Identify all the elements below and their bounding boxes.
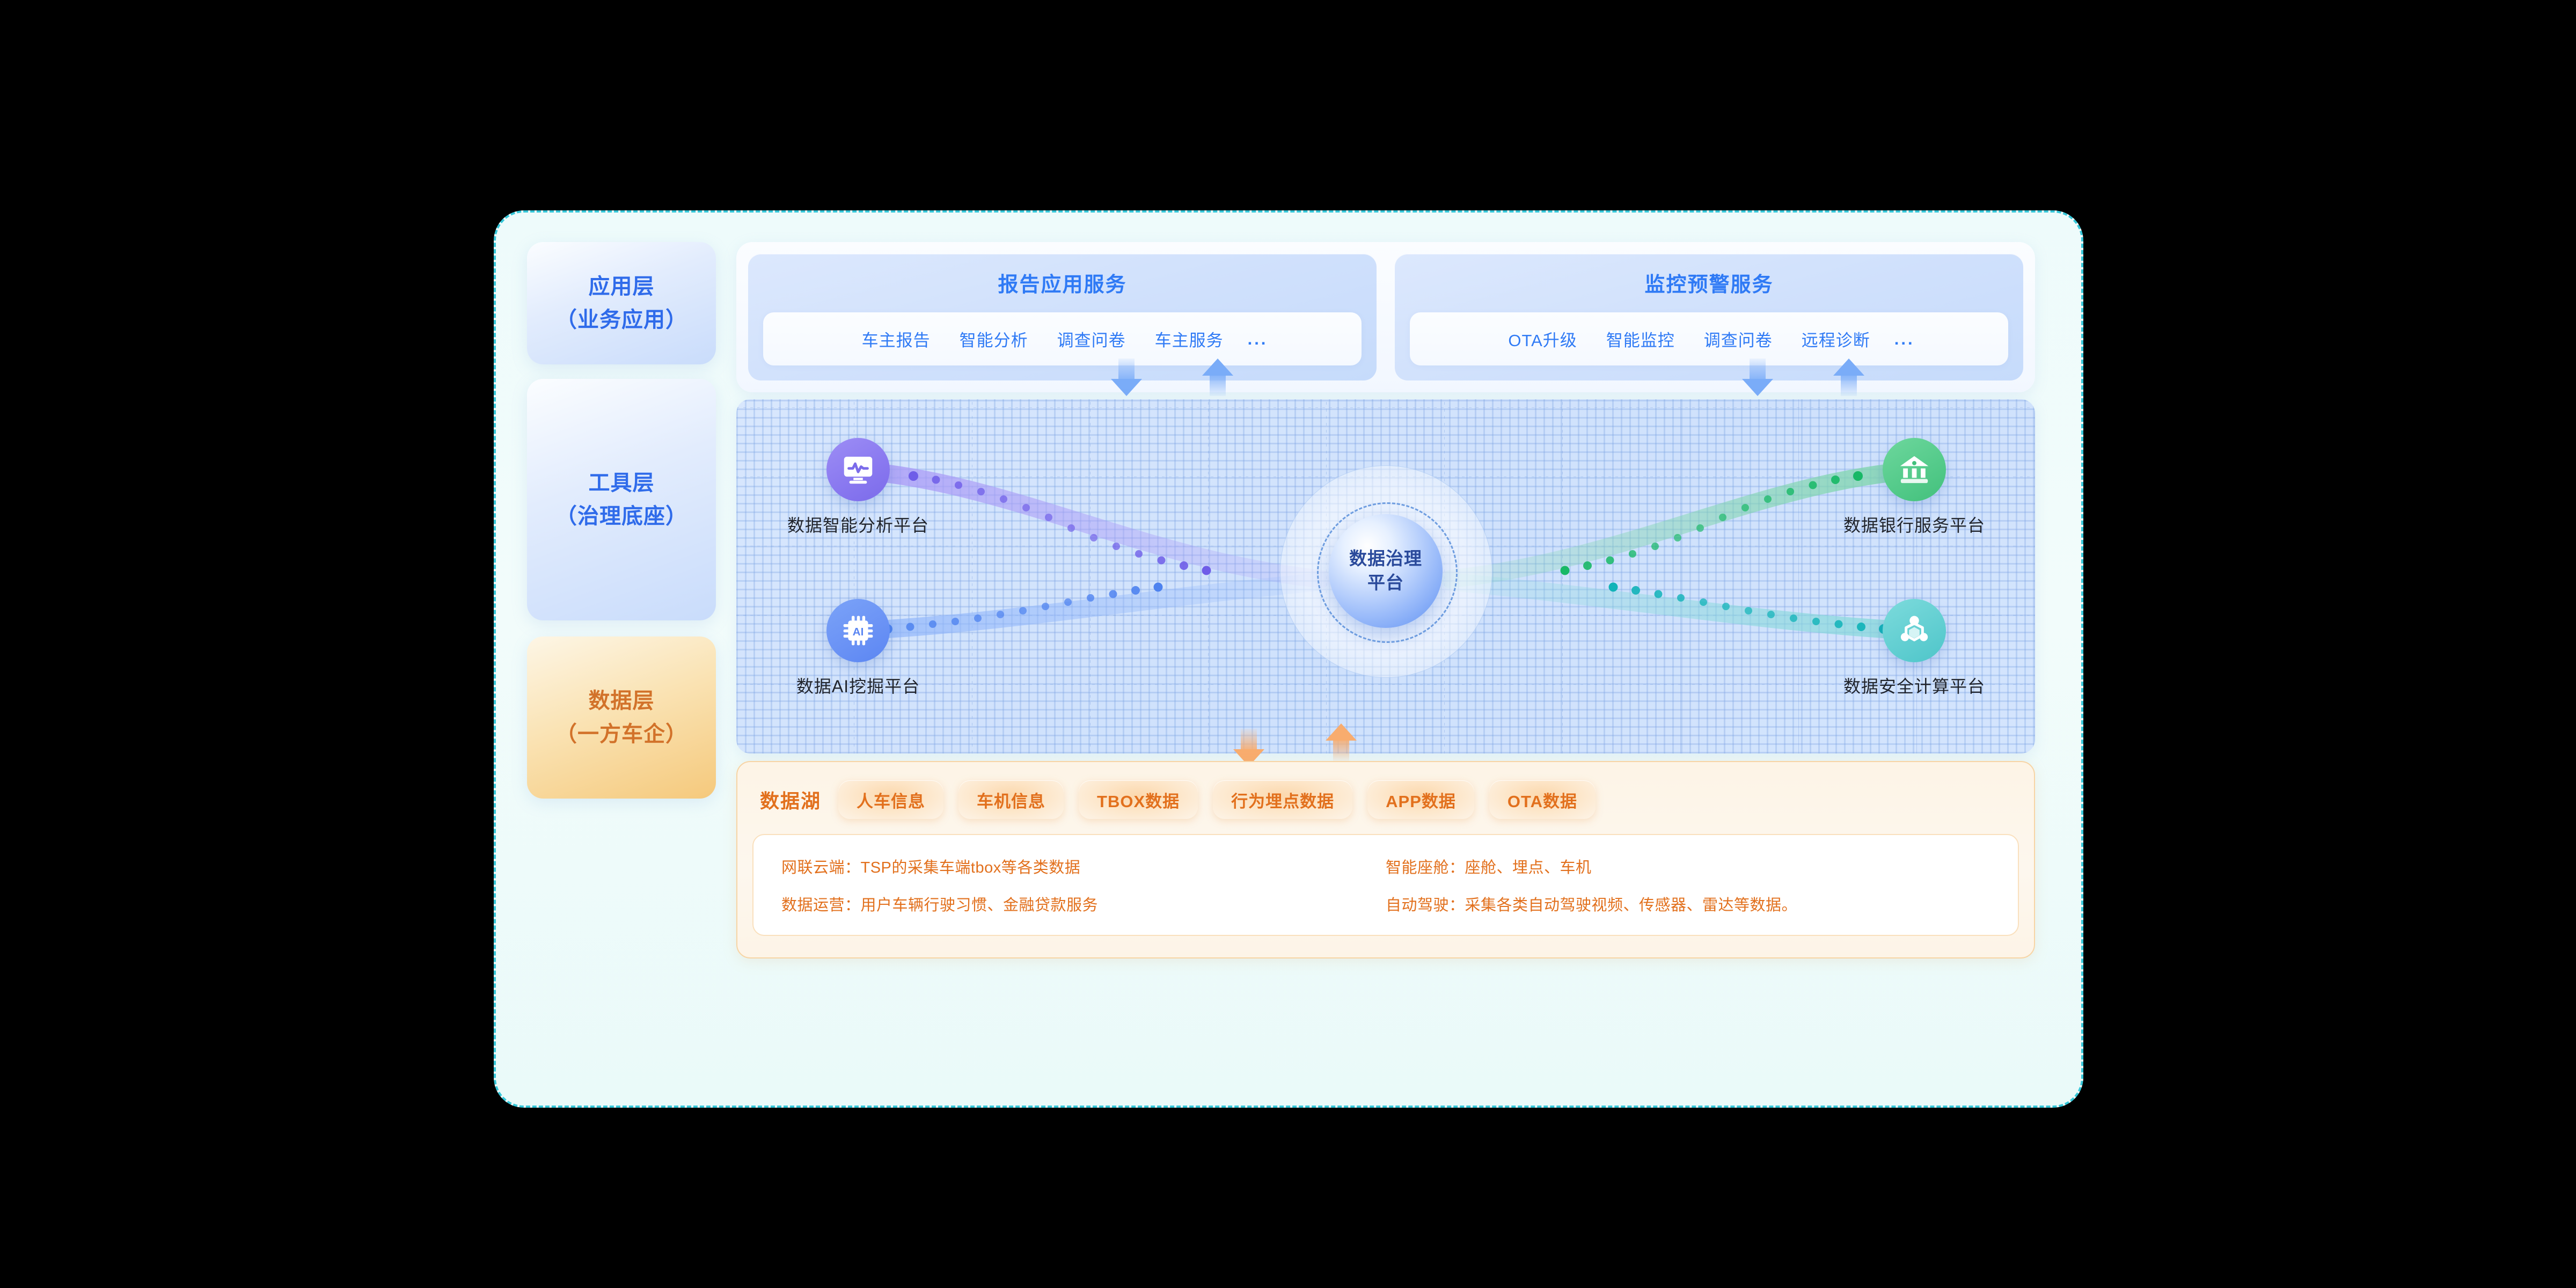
description-line: 自动驾驶：采集各类自动驾驶视频、传感器、雷达等数据。 xyxy=(1386,892,1990,915)
data-lake-chip[interactable]: OTA数据 xyxy=(1489,780,1596,819)
service-tag-list: 车主报告 智能分析 调查问卷 车主服务 ... xyxy=(763,312,1362,365)
service-tag[interactable]: OTA升级 xyxy=(1494,327,1591,351)
service-tag[interactable]: 车主服务 xyxy=(1140,327,1238,351)
service-card-report[interactable]: 报告应用服务 车主报告 智能分析 调查问卷 车主服务 ... xyxy=(748,254,1377,380)
ai-chip-icon: AI xyxy=(826,599,890,662)
data-source-description-box: 网联云端：TSP的采集车端tbox等各类数据 数据运营：用户车辆行驶习惯、金融贷… xyxy=(752,834,2019,936)
description-line: 智能座舱：座舱、埋点、车机 xyxy=(1386,855,1990,877)
svg-text:AI: AI xyxy=(853,626,864,638)
data-lake-chip[interactable]: 车机信息 xyxy=(958,780,1064,819)
service-tag[interactable]: 调查问卷 xyxy=(1043,327,1140,351)
platform-node-label: 数据智能分析平台 xyxy=(787,512,929,537)
monitor-chart-icon xyxy=(826,438,890,501)
data-lake-title: 数据湖 xyxy=(760,786,821,814)
platform-node-analysis[interactable]: 数据智能分析平台 xyxy=(770,438,947,537)
service-card-monitoring[interactable]: 监控预警服务 OTA升级 智能监控 调查问卷 远程诊断 ... xyxy=(1395,254,2023,380)
service-tag-list: OTA升级 智能监控 调查问卷 远程诊断 ... xyxy=(1410,312,2008,365)
service-tag[interactable]: 智能监控 xyxy=(1592,327,1689,351)
description-line: 网联云端：TSP的采集车端tbox等各类数据 xyxy=(781,855,1386,877)
data-lake-row: 数据湖 人车信息 车机信息 TBOX数据 行为埋点数据 APP数据 OTA数据 xyxy=(752,777,2019,822)
central-hub[interactable]: 数据治理 平台 xyxy=(1305,491,1466,652)
arrow-up-tool-to-app-right xyxy=(1833,358,1864,396)
data-layer-panel: 数据湖 人车信息 车机信息 TBOX数据 行为埋点数据 APP数据 OTA数据 … xyxy=(736,761,2035,958)
service-tag-more[interactable]: ... xyxy=(1238,330,1278,349)
data-lake-chip[interactable]: APP数据 xyxy=(1367,780,1474,819)
hub-label-line1: 数据治理 xyxy=(1349,548,1422,568)
platform-node-bank[interactable]: 数据银行服务平台 xyxy=(1826,438,2003,537)
service-tag[interactable]: 调查问卷 xyxy=(1689,327,1787,351)
tool-layer-subtitle: （治理底座） xyxy=(555,500,687,533)
layer-label-application: 应用层 （业务应用） xyxy=(527,242,716,364)
platform-node-label: 数据银行服务平台 xyxy=(1843,512,1985,537)
arrow-down-app-to-tool-left xyxy=(1111,358,1142,396)
data-layer-title: 数据层 xyxy=(589,684,655,718)
application-layer-title: 应用层 xyxy=(589,270,655,303)
tool-layer-title: 工具层 xyxy=(589,466,655,500)
service-tag[interactable]: 车主报告 xyxy=(847,327,945,351)
diagram-frame: 应用层 （业务应用） 工具层 （治理底座） 数据层 （一方车企） 报告应用服务 … xyxy=(494,210,2083,1108)
service-card-title: 监控预警服务 xyxy=(1644,268,1773,297)
arrow-up-data-to-tool xyxy=(1326,723,1357,761)
arrow-up-tool-to-app-left xyxy=(1202,358,1233,396)
tool-layer-panel: 数据治理 平台 数据智能分析平台 xyxy=(736,399,2035,753)
description-line: 数据运营：用户车辆行驶习惯、金融贷款服务 xyxy=(781,892,1386,915)
hub-label-line2: 平台 xyxy=(1367,573,1404,592)
hub-label: 数据治理 平台 xyxy=(1349,547,1422,595)
description-column-left: 网联云端：TSP的采集车端tbox等各类数据 数据运营：用户车辆行驶习惯、金融贷… xyxy=(781,859,1386,911)
bank-icon xyxy=(1883,438,1946,501)
service-tag[interactable]: 远程诊断 xyxy=(1787,327,1885,351)
service-card-title: 报告应用服务 xyxy=(998,268,1126,297)
service-tag-more[interactable]: ... xyxy=(1885,330,1924,349)
shield-network-icon xyxy=(1883,599,1946,662)
data-lake-chip[interactable]: 行为埋点数据 xyxy=(1213,780,1352,819)
platform-node-security[interactable]: 数据安全计算平台 xyxy=(1826,599,2003,698)
arrow-down-app-to-tool-right xyxy=(1742,358,1773,396)
description-column-right: 智能座舱：座舱、埋点、车机 自动驾驶：采集各类自动驾驶视频、传感器、雷达等数据。 xyxy=(1386,859,1990,911)
platform-node-label: 数据安全计算平台 xyxy=(1843,673,1985,698)
platform-node-ai[interactable]: AI 数据AI挖掘平台 xyxy=(770,599,947,698)
layer-label-tool: 工具层 （治理底座） xyxy=(527,379,716,620)
data-lake-chip[interactable]: 人车信息 xyxy=(838,780,943,819)
application-layer-subtitle: （业务应用） xyxy=(555,303,687,336)
data-layer-subtitle: （一方车企） xyxy=(555,718,687,751)
layer-label-data: 数据层 （一方车企） xyxy=(527,636,716,799)
service-tag[interactable]: 智能分析 xyxy=(945,327,1043,351)
hub-sphere: 数据治理 平台 xyxy=(1329,514,1443,628)
platform-node-label: 数据AI挖掘平台 xyxy=(796,673,920,698)
data-lake-chip[interactable]: TBOX数据 xyxy=(1079,780,1198,819)
